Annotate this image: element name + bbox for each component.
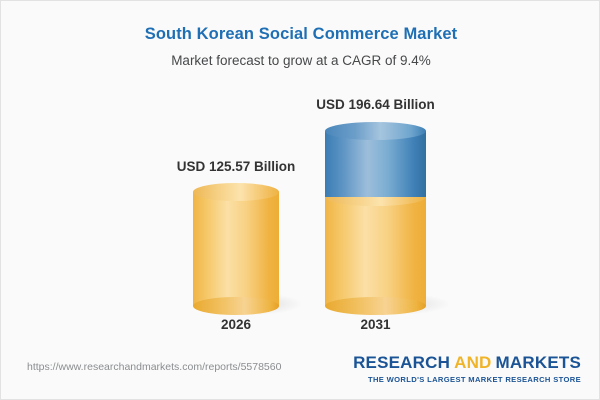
logo-word-and: AND xyxy=(450,353,495,372)
logo-word-markets: MARKETS xyxy=(496,353,581,372)
logo-word-research: RESEARCH xyxy=(353,353,450,372)
bar-data-label: USD 196.64 Billion xyxy=(316,97,435,112)
source-url[interactable]: https://www.researchandmarkets.com/repor… xyxy=(27,361,281,373)
footer: https://www.researchandmarkets.com/repor… xyxy=(1,347,600,399)
category-label-2031: 2031 xyxy=(360,317,390,332)
logo-wordmark: RESEARCHANDMARKETS xyxy=(353,353,581,373)
brand-logo[interactable]: RESEARCHANDMARKETS THE WORLD'S LARGEST M… xyxy=(353,353,581,384)
cylinder-top-ellipse xyxy=(325,122,426,140)
bar-data-label: USD 125.57 Billion xyxy=(177,159,296,174)
cylinder-blue-2031 xyxy=(325,131,426,197)
category-label-2026: 2026 xyxy=(221,317,251,332)
cylinder-bottom-ellipse xyxy=(325,297,426,315)
cylinder-body xyxy=(325,131,426,197)
logo-tagline: THE WORLD'S LARGEST MARKET RESEARCH STOR… xyxy=(353,375,581,384)
cylinder-bottom-ellipse xyxy=(193,297,279,315)
cylinder-gold-2031 xyxy=(325,197,426,306)
cylinder-body xyxy=(193,192,279,306)
cylinder-body xyxy=(325,197,426,306)
cylinder-gold-2026 xyxy=(193,192,279,306)
plot-area: USD 125.57 Billion 2026 USD 196.64 Billi… xyxy=(1,1,600,346)
chart-card: South Korean Social Commerce Market Mark… xyxy=(0,0,600,400)
cylinder-top-ellipse xyxy=(193,183,279,201)
